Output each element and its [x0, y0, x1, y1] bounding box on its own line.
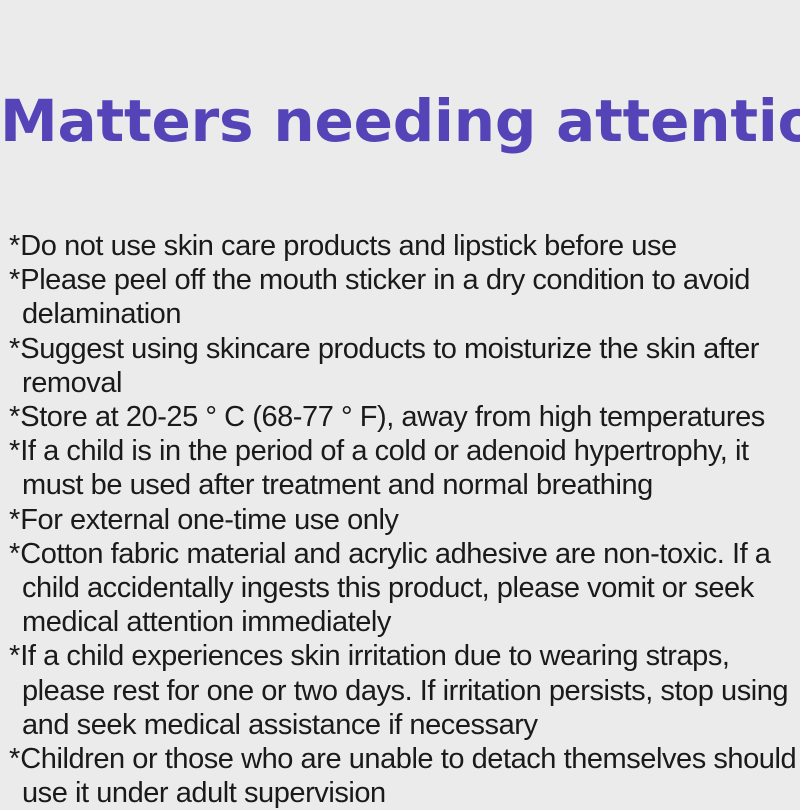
precaution-item: *If a child experiences skin irritation …	[9, 639, 799, 742]
precaution-item: *Store at 20-25 ° C (68-77 ° F), away fr…	[9, 400, 799, 434]
bullet-marker: *	[9, 264, 20, 296]
precaution-text: Please peel off the mouth sticker in a d…	[20, 264, 757, 330]
bullet-marker: *	[9, 333, 20, 365]
precaution-text: If a child experiences skin irritation d…	[20, 640, 795, 740]
bullet-marker: *	[9, 401, 20, 433]
bullet-marker: *	[9, 538, 20, 570]
bullet-marker: *	[9, 504, 20, 536]
precautions-list: *Do not use skin care products and lipst…	[9, 229, 799, 810]
precaution-text: Do not use skin care products and lipsti…	[20, 230, 676, 262]
precaution-text: Children or those who are unable to deta…	[20, 743, 800, 809]
precaution-item: *Please peel off the mouth sticker in a …	[9, 263, 799, 331]
precaution-item: *For external one-time use only	[9, 503, 799, 537]
page-title: Matters needing attention	[0, 86, 800, 156]
precaution-text: For external one-time use only	[20, 504, 398, 536]
instruction-card: Matters needing attention *Do not use sk…	[0, 0, 800, 800]
bullet-marker: *	[9, 230, 20, 262]
precaution-text: Cotton fabric material and acrylic adhes…	[20, 538, 778, 638]
precaution-text: If a child is in the period of a cold or…	[20, 435, 756, 501]
bullet-marker: *	[9, 640, 20, 672]
precaution-item: *Do not use skin care products and lipst…	[9, 229, 799, 263]
precaution-text: Store at 20-25 ° C (68-77 ° F), away fro…	[20, 401, 765, 433]
precaution-text: Suggest using skincare products to moist…	[20, 333, 766, 399]
bullet-marker: *	[9, 743, 20, 775]
precaution-item: *Suggest using skincare products to mois…	[9, 332, 799, 400]
precaution-item: *Cotton fabric material and acrylic adhe…	[9, 537, 799, 640]
precaution-item: *If a child is in the period of a cold o…	[9, 434, 799, 502]
bullet-marker: *	[9, 435, 20, 467]
